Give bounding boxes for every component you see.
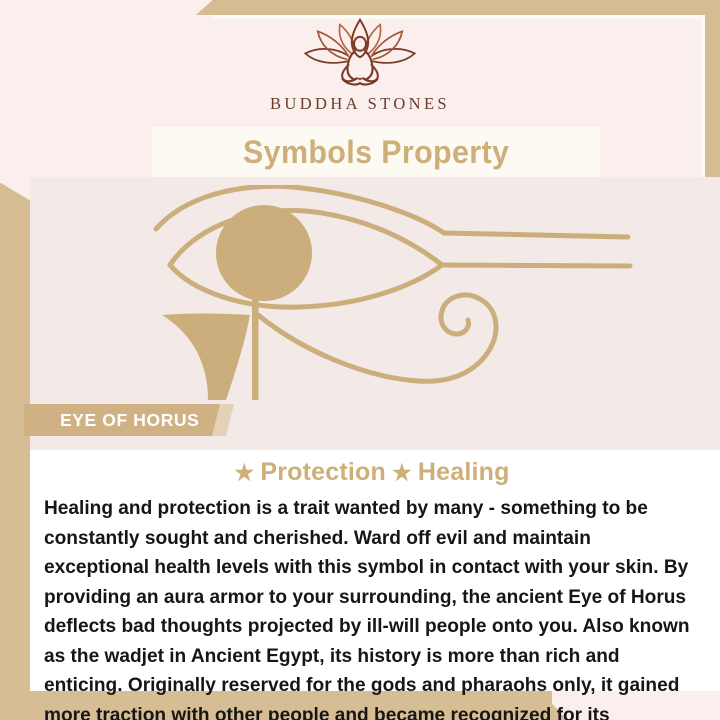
symbol-info-card: BUDDHA STONES Symbols Property [0, 0, 720, 720]
eye-stem [252, 295, 259, 400]
star-icon-2: ★ [392, 460, 412, 485]
eye-iris [216, 205, 312, 301]
lotus-meditation-icon [275, 15, 445, 87]
property-healing: Healing [418, 458, 510, 486]
eye-of-horus-icon [150, 185, 650, 400]
badge-label: EYE OF HORUS [60, 410, 199, 431]
accent-bar-left-bevel [0, 183, 30, 201]
description-text: Healing and protection is a trait wanted… [44, 494, 690, 720]
property-protection: Protection [260, 458, 386, 486]
eye-teardrop [162, 314, 250, 401]
brand-name: BUDDHA STONES [270, 94, 450, 114]
title-banner: Symbols Property [152, 127, 600, 177]
accent-bar-left [0, 183, 30, 720]
star-icon-1: ★ [234, 460, 254, 485]
page-title: Symbols Property [243, 134, 509, 171]
status-badge: EYE OF HORUS [24, 404, 233, 436]
brand-logo-block: BUDDHA STONES [30, 0, 690, 128]
description-panel: ★Protection★Healing Healing and protecti… [30, 450, 720, 691]
properties-heading: ★Protection★Healing [44, 458, 700, 487]
